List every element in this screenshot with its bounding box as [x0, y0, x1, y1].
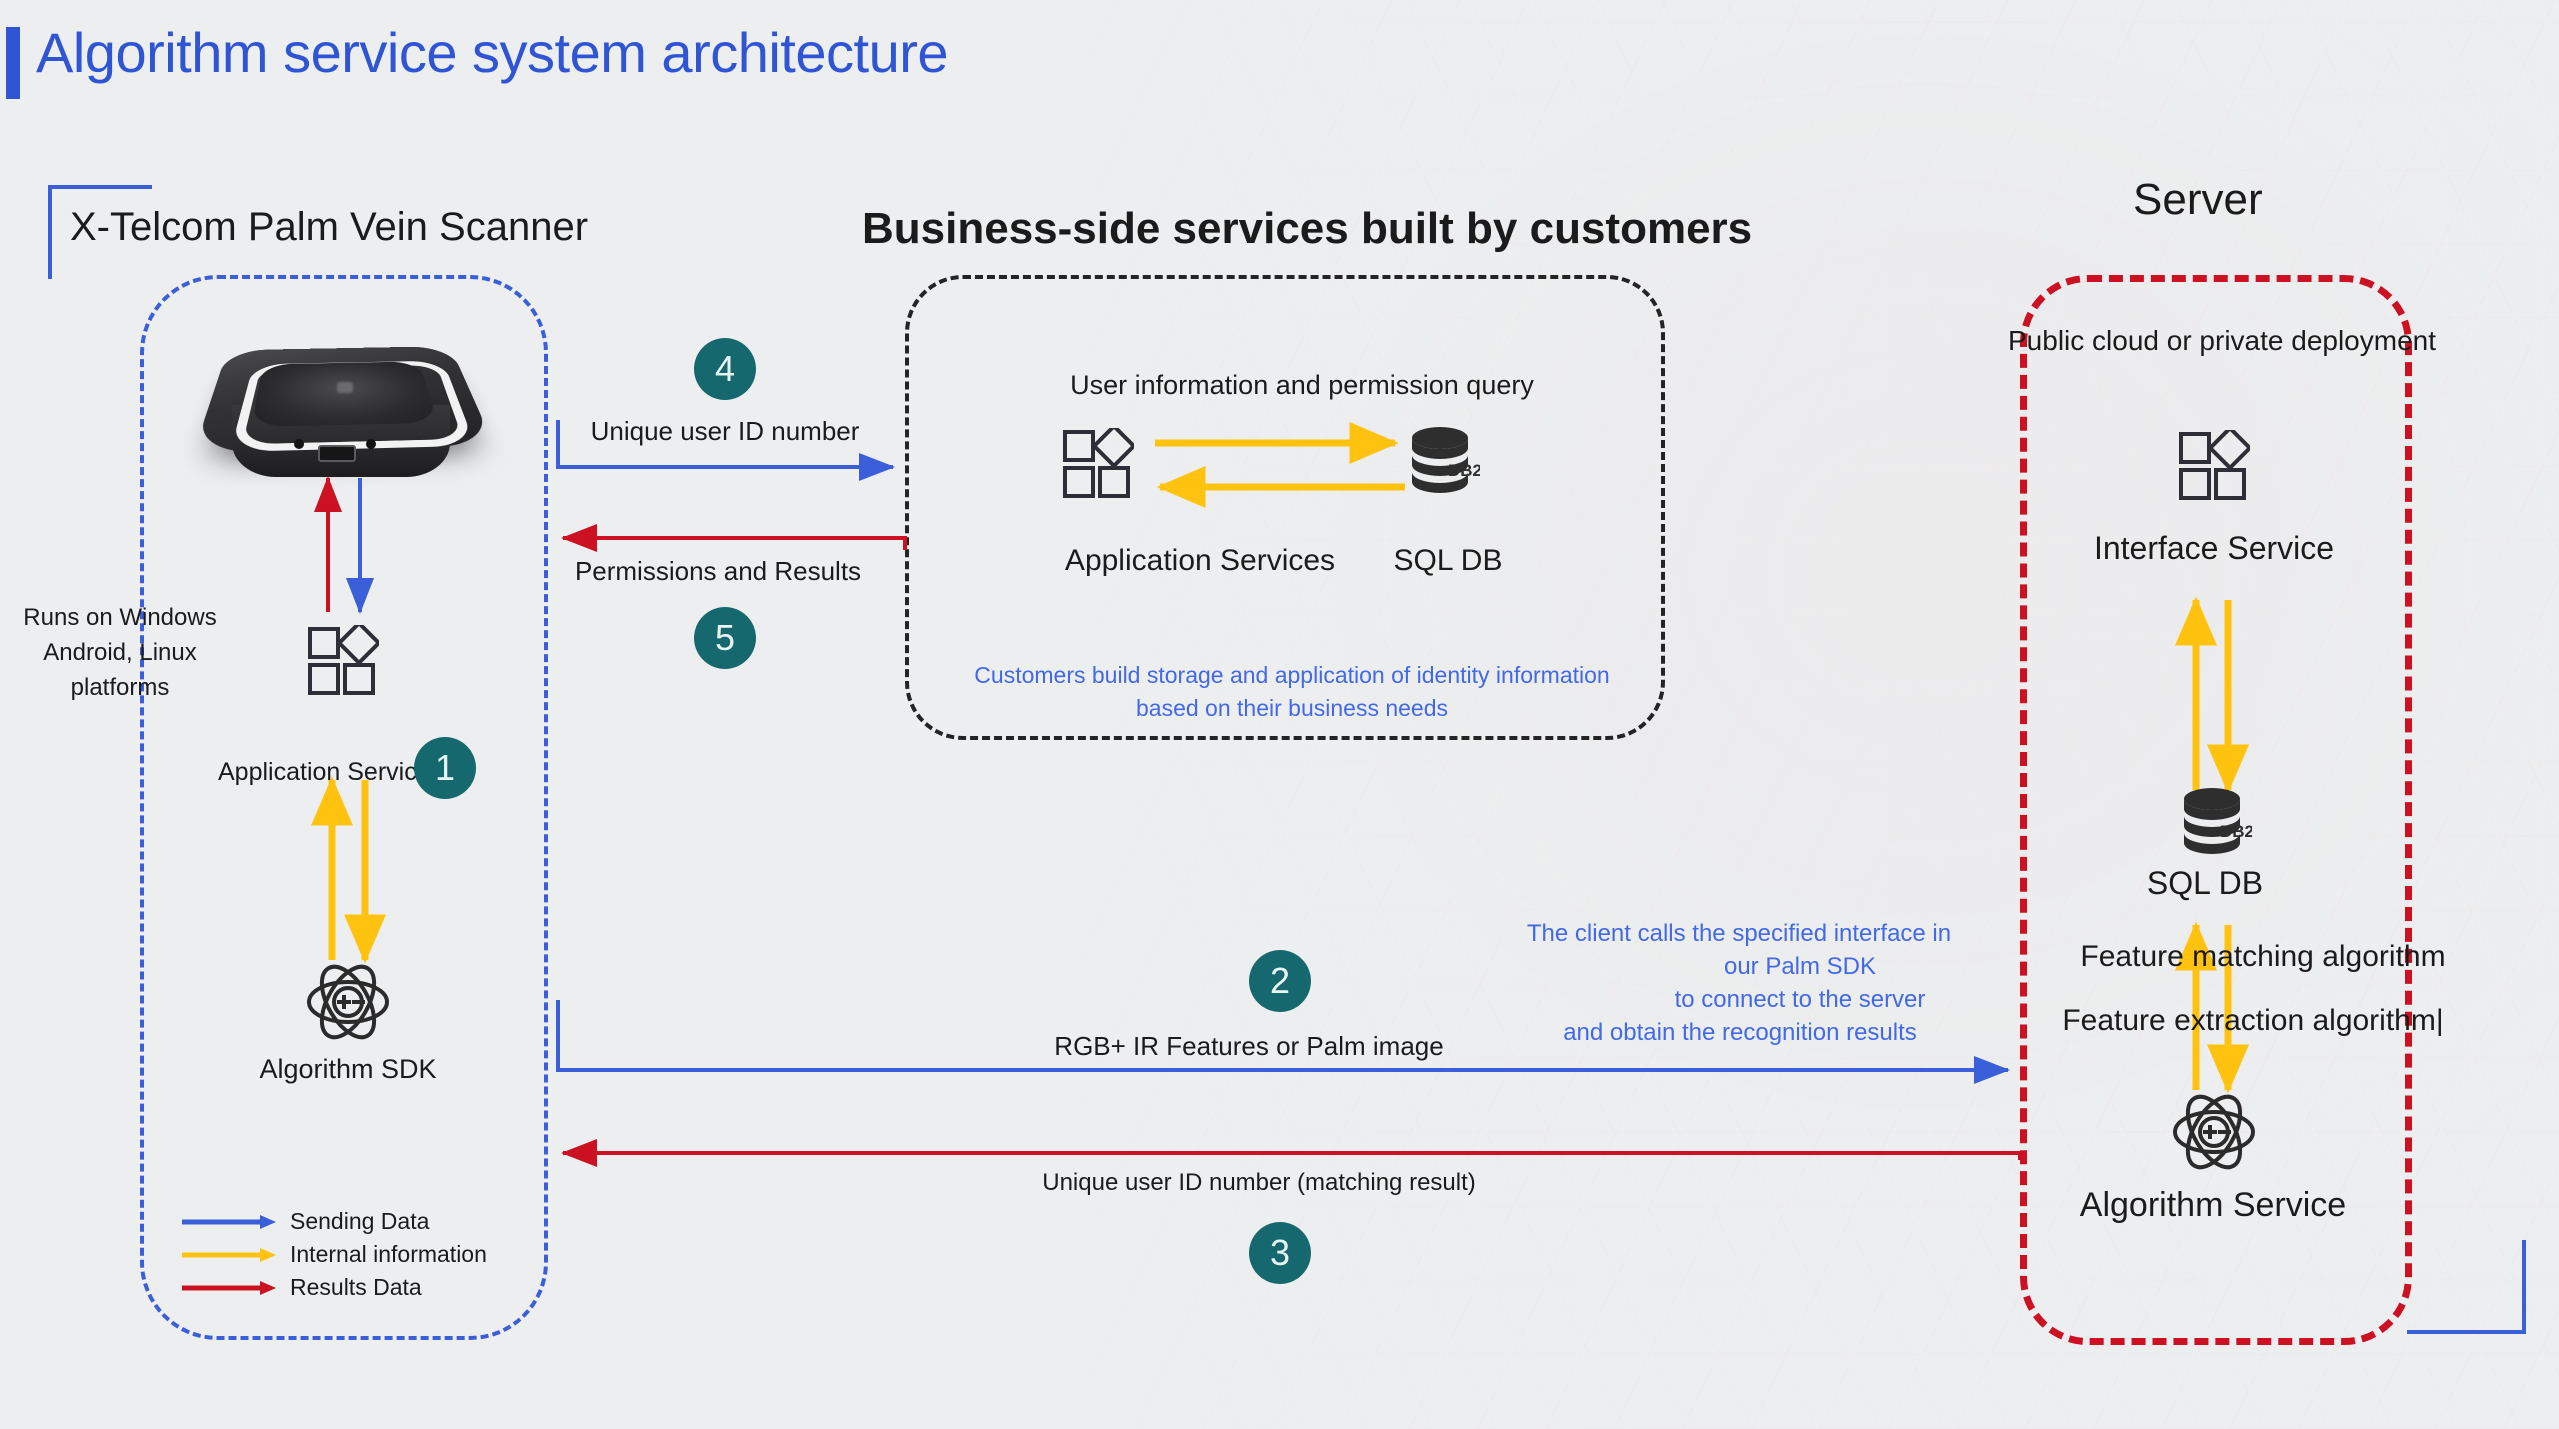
step-badge-1: 1: [414, 737, 476, 799]
client-note-line-1: The client calls the specified interface…: [1527, 920, 1951, 948]
client-note-line-2: our Palm SDK: [1724, 953, 1876, 981]
flow-3-label: Unique user ID number (matching result): [1042, 1169, 1476, 1197]
interface-service-label: Interface Service: [2094, 530, 2334, 567]
business-query-label: User information and permission query: [1070, 370, 1534, 401]
server-section-header: Server: [2133, 175, 2263, 225]
database-badge-text: DB2: [1448, 461, 1480, 480]
legend-label-internal-information: Internal information: [290, 1241, 487, 1268]
title-accent-bar: [6, 27, 20, 99]
application-services-icon: [2178, 430, 2250, 502]
atom-icon: [2172, 1090, 2256, 1174]
legend-item-sending-data: Sending Data: [180, 1205, 510, 1238]
algorithm-sdk-label: Algorithm SDK: [259, 1054, 436, 1085]
flow-4-label: Unique user ID number: [591, 416, 860, 447]
legend-arrow-red-icon: [180, 1279, 276, 1297]
step-badge-3: 3: [1249, 1222, 1311, 1284]
step-badge-4: 4: [694, 338, 756, 400]
platforms-note-line-1: Runs on Windows: [23, 604, 216, 632]
legend-arrow-amber-icon: [180, 1246, 276, 1264]
page-title: Algorithm service system architecture: [36, 20, 948, 85]
algorithm-service-label: Algorithm Service: [2080, 1186, 2346, 1225]
database-icon: DB2: [1408, 425, 1480, 501]
application-services-icon: [307, 625, 379, 697]
application-services-icon: [1062, 428, 1134, 500]
business-footer-note-line-1: Customers build storage and application …: [974, 662, 1609, 689]
step-badge-2: 2: [1249, 950, 1311, 1012]
legend-arrow-blue-icon: [180, 1213, 276, 1231]
client-note-line-4: and obtain the recognition results: [1563, 1019, 1917, 1047]
legend-item-results-data: Results Data: [180, 1271, 510, 1304]
palm-vein-scanner-device-icon: [196, 293, 488, 493]
server-db-label: SQL DB: [2147, 865, 2263, 902]
legend: Sending Data Internal information Result…: [180, 1205, 510, 1304]
server-deployment-note: Public cloud or private deployment: [2008, 325, 2436, 357]
platforms-note-line-3: platforms: [71, 674, 170, 702]
business-apps-label: Application Services: [1065, 544, 1335, 578]
business-section-header: Business-side services built by customer…: [862, 204, 1752, 254]
legend-label-results-data: Results Data: [290, 1274, 422, 1301]
feature-matching-algorithm-label: Feature matching algorithm: [2080, 940, 2445, 974]
step-badge-5: 5: [694, 607, 756, 669]
feature-extraction-algorithm-label: Feature extraction algorithm|: [2062, 1004, 2443, 1038]
database-badge-text: DB2: [2220, 822, 2252, 841]
legend-label-sending-data: Sending Data: [290, 1208, 429, 1235]
scanner-apps-label: Application Services: [218, 758, 443, 787]
atom-icon: [306, 960, 390, 1044]
legend-item-internal-information: Internal information: [180, 1238, 510, 1271]
client-note-line-3: to connect to the server: [1675, 986, 1926, 1014]
platforms-note-line-2: Android, Linux: [43, 639, 196, 667]
business-db-label: SQL DB: [1394, 544, 1503, 578]
scanner-section-header: X-Telcom Palm Vein Scanner: [70, 205, 588, 250]
flow-5-label: Permissions and Results: [575, 556, 861, 587]
flow-2-label: RGB+ IR Features or Palm image: [1054, 1031, 1443, 1062]
database-icon: DB2: [2180, 786, 2252, 862]
corner-bracket-bottom-right: [2407, 1240, 2526, 1334]
business-footer-note-line-2: based on their business needs: [1136, 695, 1448, 722]
